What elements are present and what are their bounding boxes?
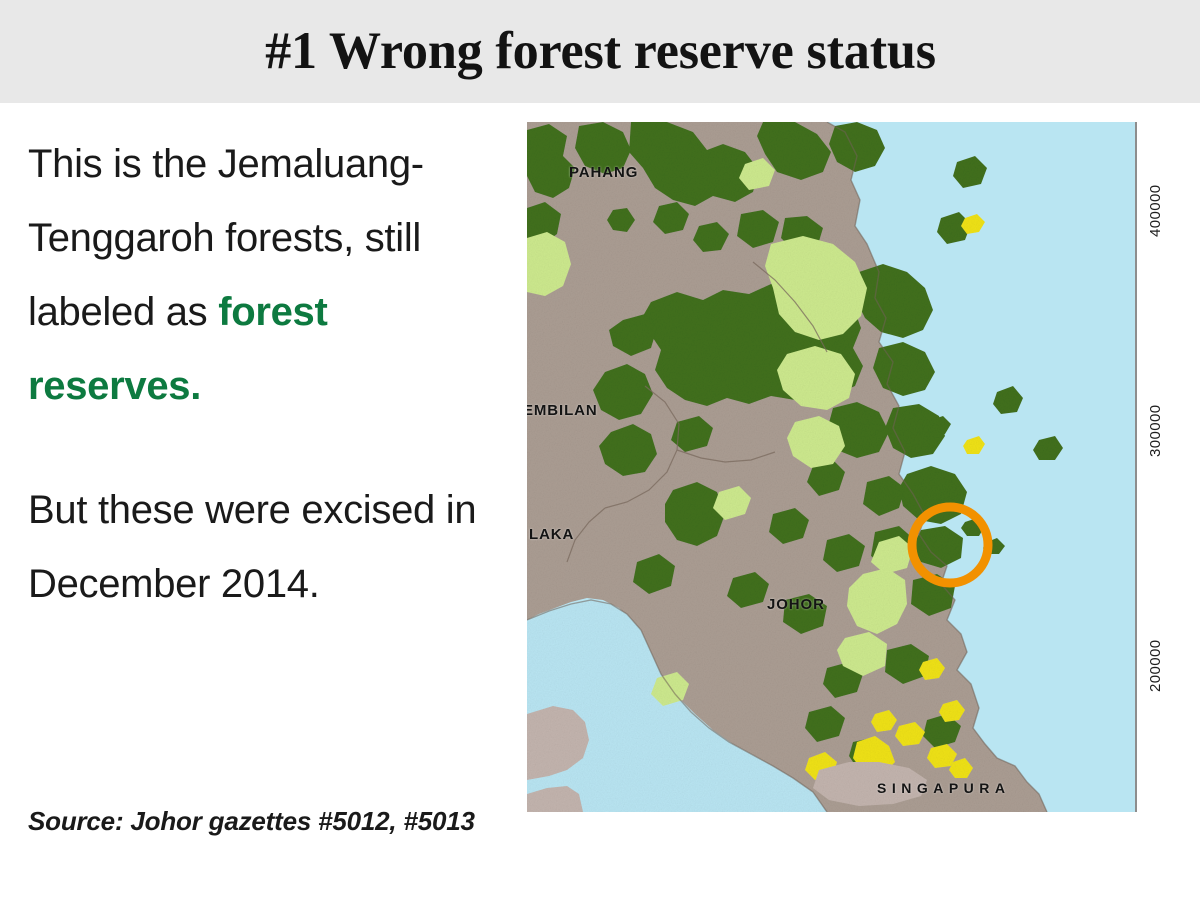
axis-tick-300000: 300000: [1147, 405, 1164, 457]
map-image: PAHANG EMBILAN LAKA JOHOR SINGAPURA: [527, 122, 1137, 812]
paragraph-one: This is the Jemaluang-Tenggaroh forests,…: [28, 127, 508, 423]
header-band: #1 Wrong forest reserve status: [0, 0, 1200, 103]
source-note: Source: Johor gazettes #5012, #5013: [28, 806, 475, 837]
paragraph-two: But these were excised in December 2014.: [28, 473, 508, 621]
page-title: #1 Wrong forest reserve status: [265, 25, 936, 78]
map-figure: PAHANG EMBILAN LAKA JOHOR SINGAPURA 4000…: [527, 122, 1137, 813]
axis-tick-200000: 200000: [1147, 640, 1164, 692]
axis-tick-400000: 400000: [1147, 185, 1164, 237]
paragraph-one-period: .: [190, 364, 201, 408]
text-column: This is the Jemaluang-Tenggaroh forests,…: [28, 127, 508, 621]
map-canvas: [527, 122, 1135, 812]
